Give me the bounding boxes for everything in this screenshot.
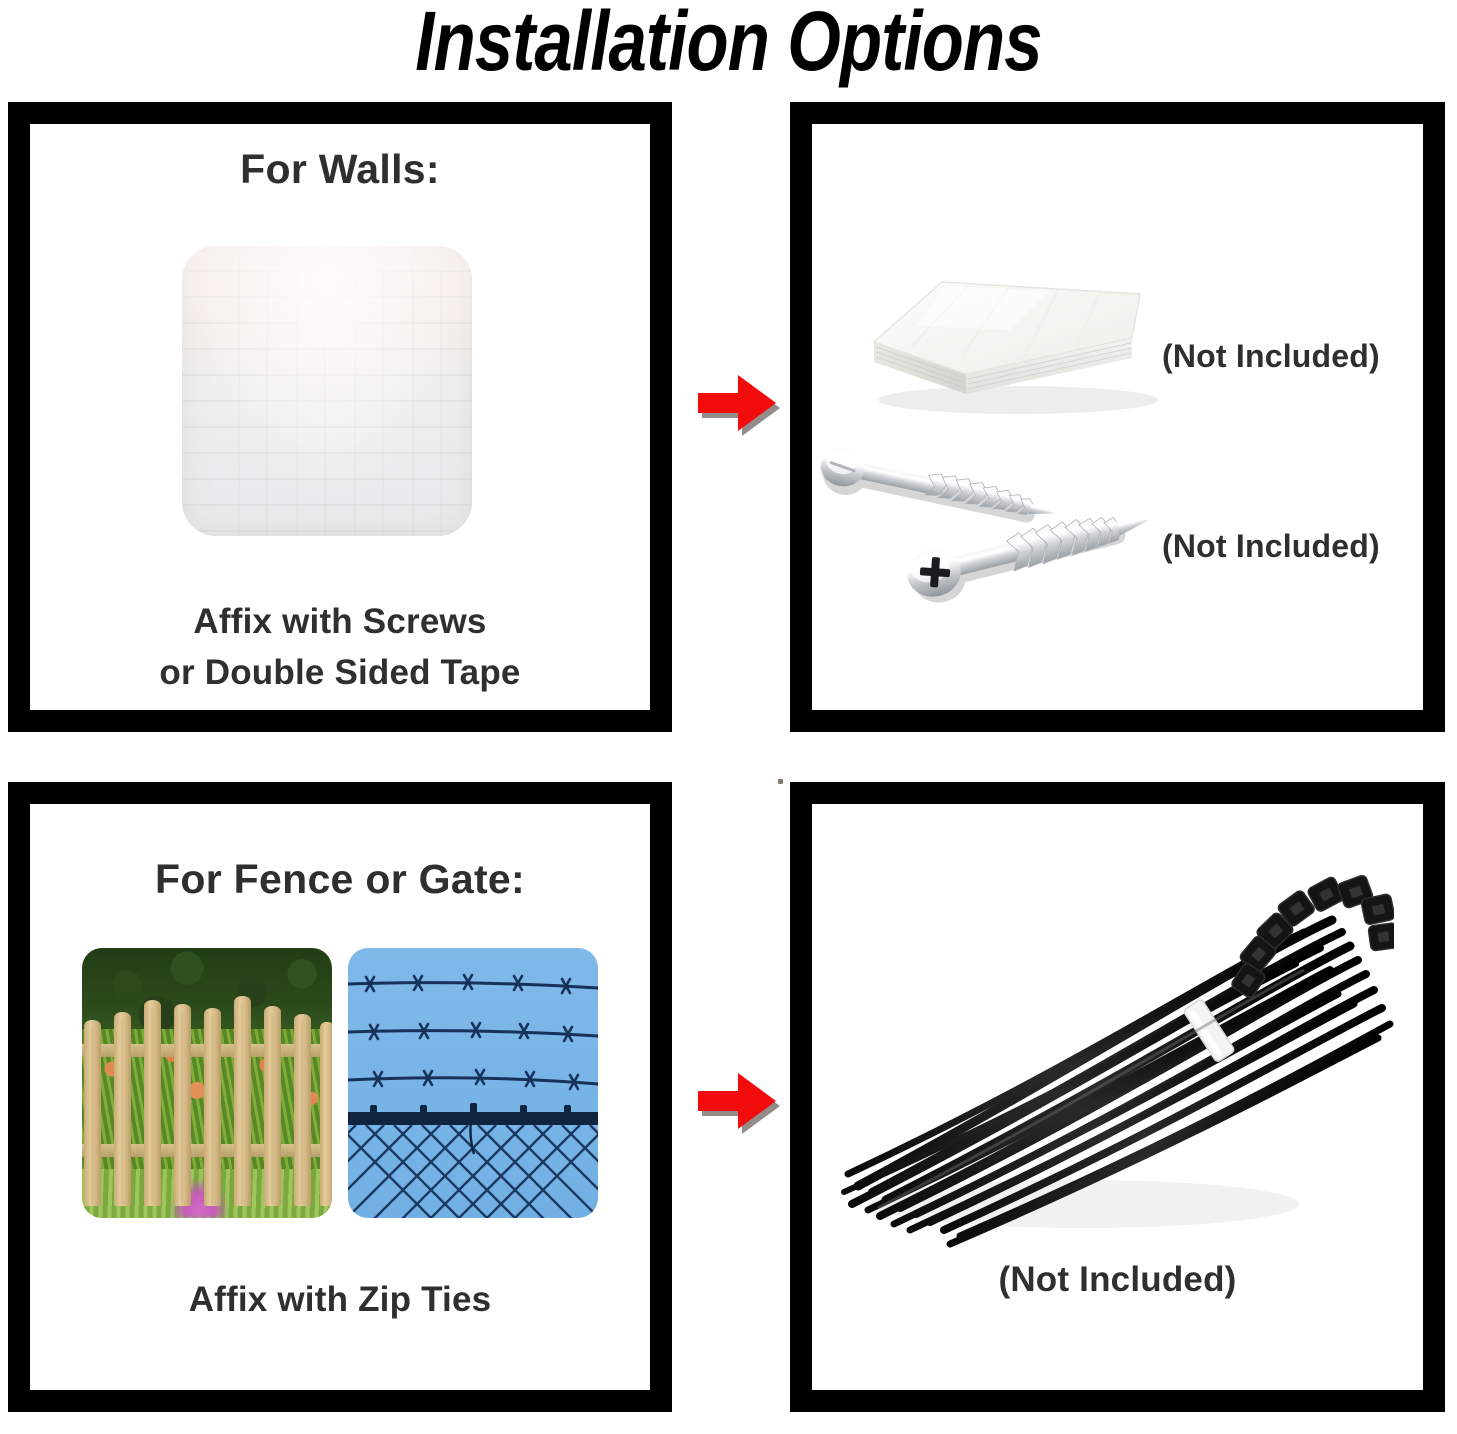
panel-for-walls-caption-line1: Affix with Screws <box>30 596 650 647</box>
panel-fence-hardware: (Not Included) <box>790 782 1445 1412</box>
fence-wires <box>348 948 598 1218</box>
brick-highlight-overlay <box>182 246 472 536</box>
panel-for-walls: For Walls: Affix with Screws or Double S… <box>8 102 672 732</box>
screws-not-included-note: (Not Included) <box>1162 528 1380 565</box>
panel-wall-hardware-content: (Not Included) <box>812 124 1423 710</box>
panel-for-fence-heading: For Fence or Gate: <box>30 856 650 903</box>
panel-for-fence-caption: Affix with Zip Ties <box>30 1274 650 1325</box>
wooden-pickets <box>82 948 332 1218</box>
white-painted-brick-wall-photo <box>182 246 472 536</box>
panel-fence-hardware-content: (Not Included) <box>812 804 1423 1390</box>
wooden-picket-fence-photo <box>82 948 332 1218</box>
tape-not-included-note: (Not Included) <box>1162 338 1380 375</box>
zip-ties-not-included-note: (Not Included) <box>812 1254 1423 1305</box>
panel-for-walls-heading: For Walls: <box>30 146 650 193</box>
chain-link-barbed-wire-fence-photo <box>348 948 598 1218</box>
arrow-right-red-top <box>690 367 782 439</box>
double-sided-tape-squares-stack <box>850 234 1180 424</box>
panel-for-fence-or-gate-content: For Fence or Gate: <box>30 804 650 1390</box>
arrow-right-red-bottom <box>690 1065 782 1137</box>
panel-for-walls-caption-line2: or Double Sided Tape <box>30 647 650 698</box>
image-speck <box>778 779 783 784</box>
two-silver-phillips-wood-screws <box>816 442 1176 622</box>
page-title: Installation Options <box>131 0 1326 88</box>
black-zip-ties-bundle <box>834 874 1394 1264</box>
panel-for-fence-or-gate: For Fence or Gate: <box>8 782 672 1412</box>
panel-wall-hardware: (Not Included) <box>790 102 1445 732</box>
installation-options-infographic: Installation Options For Walls: Affix wi… <box>0 0 1457 1434</box>
panel-for-walls-content: For Walls: Affix with Screws or Double S… <box>30 124 650 710</box>
